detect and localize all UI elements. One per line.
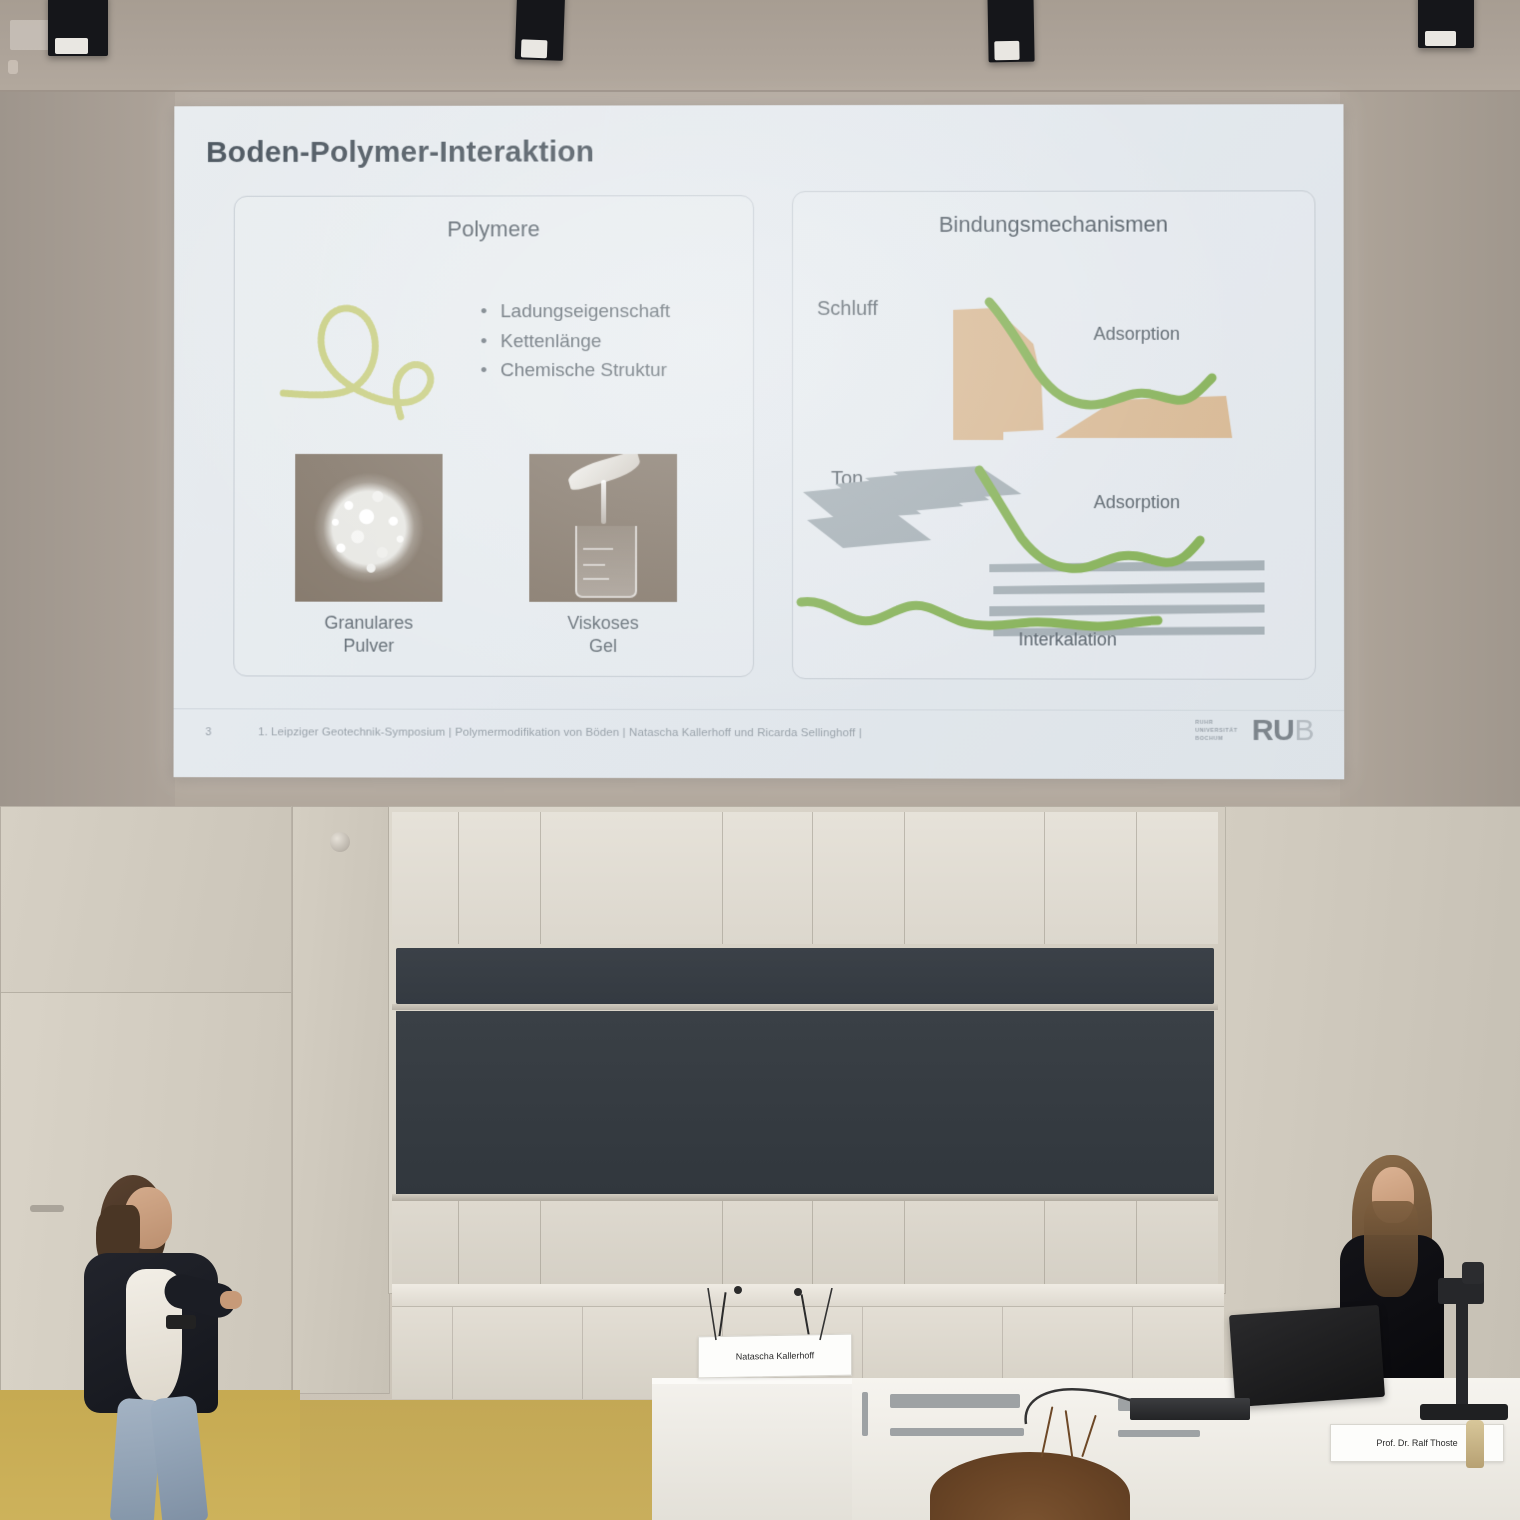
document-camera-base [1420,1404,1508,1420]
rub-wordmark-ru: RU [1252,714,1295,747]
granular-powder-photo [295,454,442,602]
wall-cabinet-upper-left [0,806,292,994]
document-camera-icon [1462,1262,1484,1284]
ceiling-spotlight-icon [48,0,108,56]
blackboard-rail [392,1004,1218,1010]
ceiling-sensor [8,60,18,74]
thumbnail-caption-line1: Granulares [284,612,453,635]
desk-groove [1118,1430,1200,1437]
hand [220,1291,242,1309]
wall-knob-icon [330,832,350,852]
document-camera-stand [1456,1290,1468,1418]
annotation-clay-intercalation: Interkalation [1018,629,1116,650]
rub-logo: RUHR UNIVERSITÄT BOCHUM RUB [1195,714,1314,748]
polymer-chain-icon [279,291,463,426]
rub-wordmark-b: B [1294,714,1314,747]
desk-groove [890,1428,1024,1436]
ceiling-spotlight-icon [1418,0,1474,48]
clicker [166,1315,196,1329]
projected-slide: Boden-Polymer-Interaktion Polymere Ladun… [174,104,1345,779]
blackboard-lower-panels [392,1201,1218,1293]
slide-title: Boden-Polymer-Interaktion [206,135,594,170]
footer-divider [174,708,1345,711]
wall-left-shadow [0,92,175,808]
lecture-hall-photo: Boden-Polymer-Interaktion Polymere Ladun… [0,0,1520,1520]
laptop-device [1130,1398,1250,1420]
presenter-monitor [1229,1305,1385,1407]
nameplate-hanging-wires [692,1288,862,1344]
door-handle [30,1205,64,1212]
thumbnail-viscous-gel: Viskoses Gel [518,454,688,657]
thumbnail-caption-line1: Viskoses [518,612,688,635]
nameplate-text: Natascha Kallerhoff [736,1350,814,1361]
list-item: Ladungseigenschaft [500,298,670,326]
blackboard-upper-section [396,948,1214,1004]
binding-mechanism-diagram [793,247,1315,668]
wall-right-shadow [1340,92,1520,808]
jeans-right [150,1395,209,1520]
viscous-gel-photo [529,454,677,602]
polymer-properties-list: Ladungseigenschaft Kettenlänge Chemische… [478,298,670,387]
panel-polymere-heading: Polymere [235,216,753,243]
slide-footer-text: 1. Leipziger Geotechnik-Symposium | Poly… [258,726,862,739]
desk-groove [890,1394,1020,1408]
lectern-left [652,1384,852,1520]
hair-strands [1364,1201,1418,1297]
nameplate-text: Prof. Dr. Ralf Thoste [1376,1438,1457,1448]
annotation-clay-adsorption: Adsorption [1094,492,1180,513]
desk-groove [862,1392,868,1436]
list-item: Kettenlänge [500,328,670,356]
rub-wordmark: RUB [1252,714,1314,748]
ceiling-spotlight-icon [515,0,565,61]
thumbnail-caption-line2: Pulver [284,634,453,657]
water-bottle-icon [1466,1420,1484,1468]
panel-bindungsmechanismen: Bindungsmechanismen Schluff Ton [792,190,1316,679]
wall-panel-center-left [292,806,390,1394]
presenter-left [80,1175,260,1520]
blackboard-chalk-tray [392,1194,1218,1201]
list-item: Chemische Struktur [500,357,670,385]
rub-logo-line3: BOCHUM [1195,735,1237,743]
panel-polymere: Polymere Ladungseigenschaft Kettenlänge … [233,195,754,677]
ceiling [0,0,1520,96]
annotation-silt-adsorption: Adsorption [1094,324,1180,345]
thumbnail-caption-line2: Gel [518,634,688,657]
slide-page-number: 3 [205,726,211,738]
blackboard-upper-panels [392,812,1218,944]
thumbnail-granular-powder: Granulares Pulver [284,454,453,657]
blackboard-main-section [396,1011,1214,1194]
rub-logo-line1: RUHR [1195,718,1237,726]
ceiling-spotlight-icon [987,0,1034,62]
rub-logo-line2: UNIVERSITÄT [1195,727,1237,735]
panel-bindungsmechanismen-heading: Bindungsmechanismen [793,211,1314,238]
